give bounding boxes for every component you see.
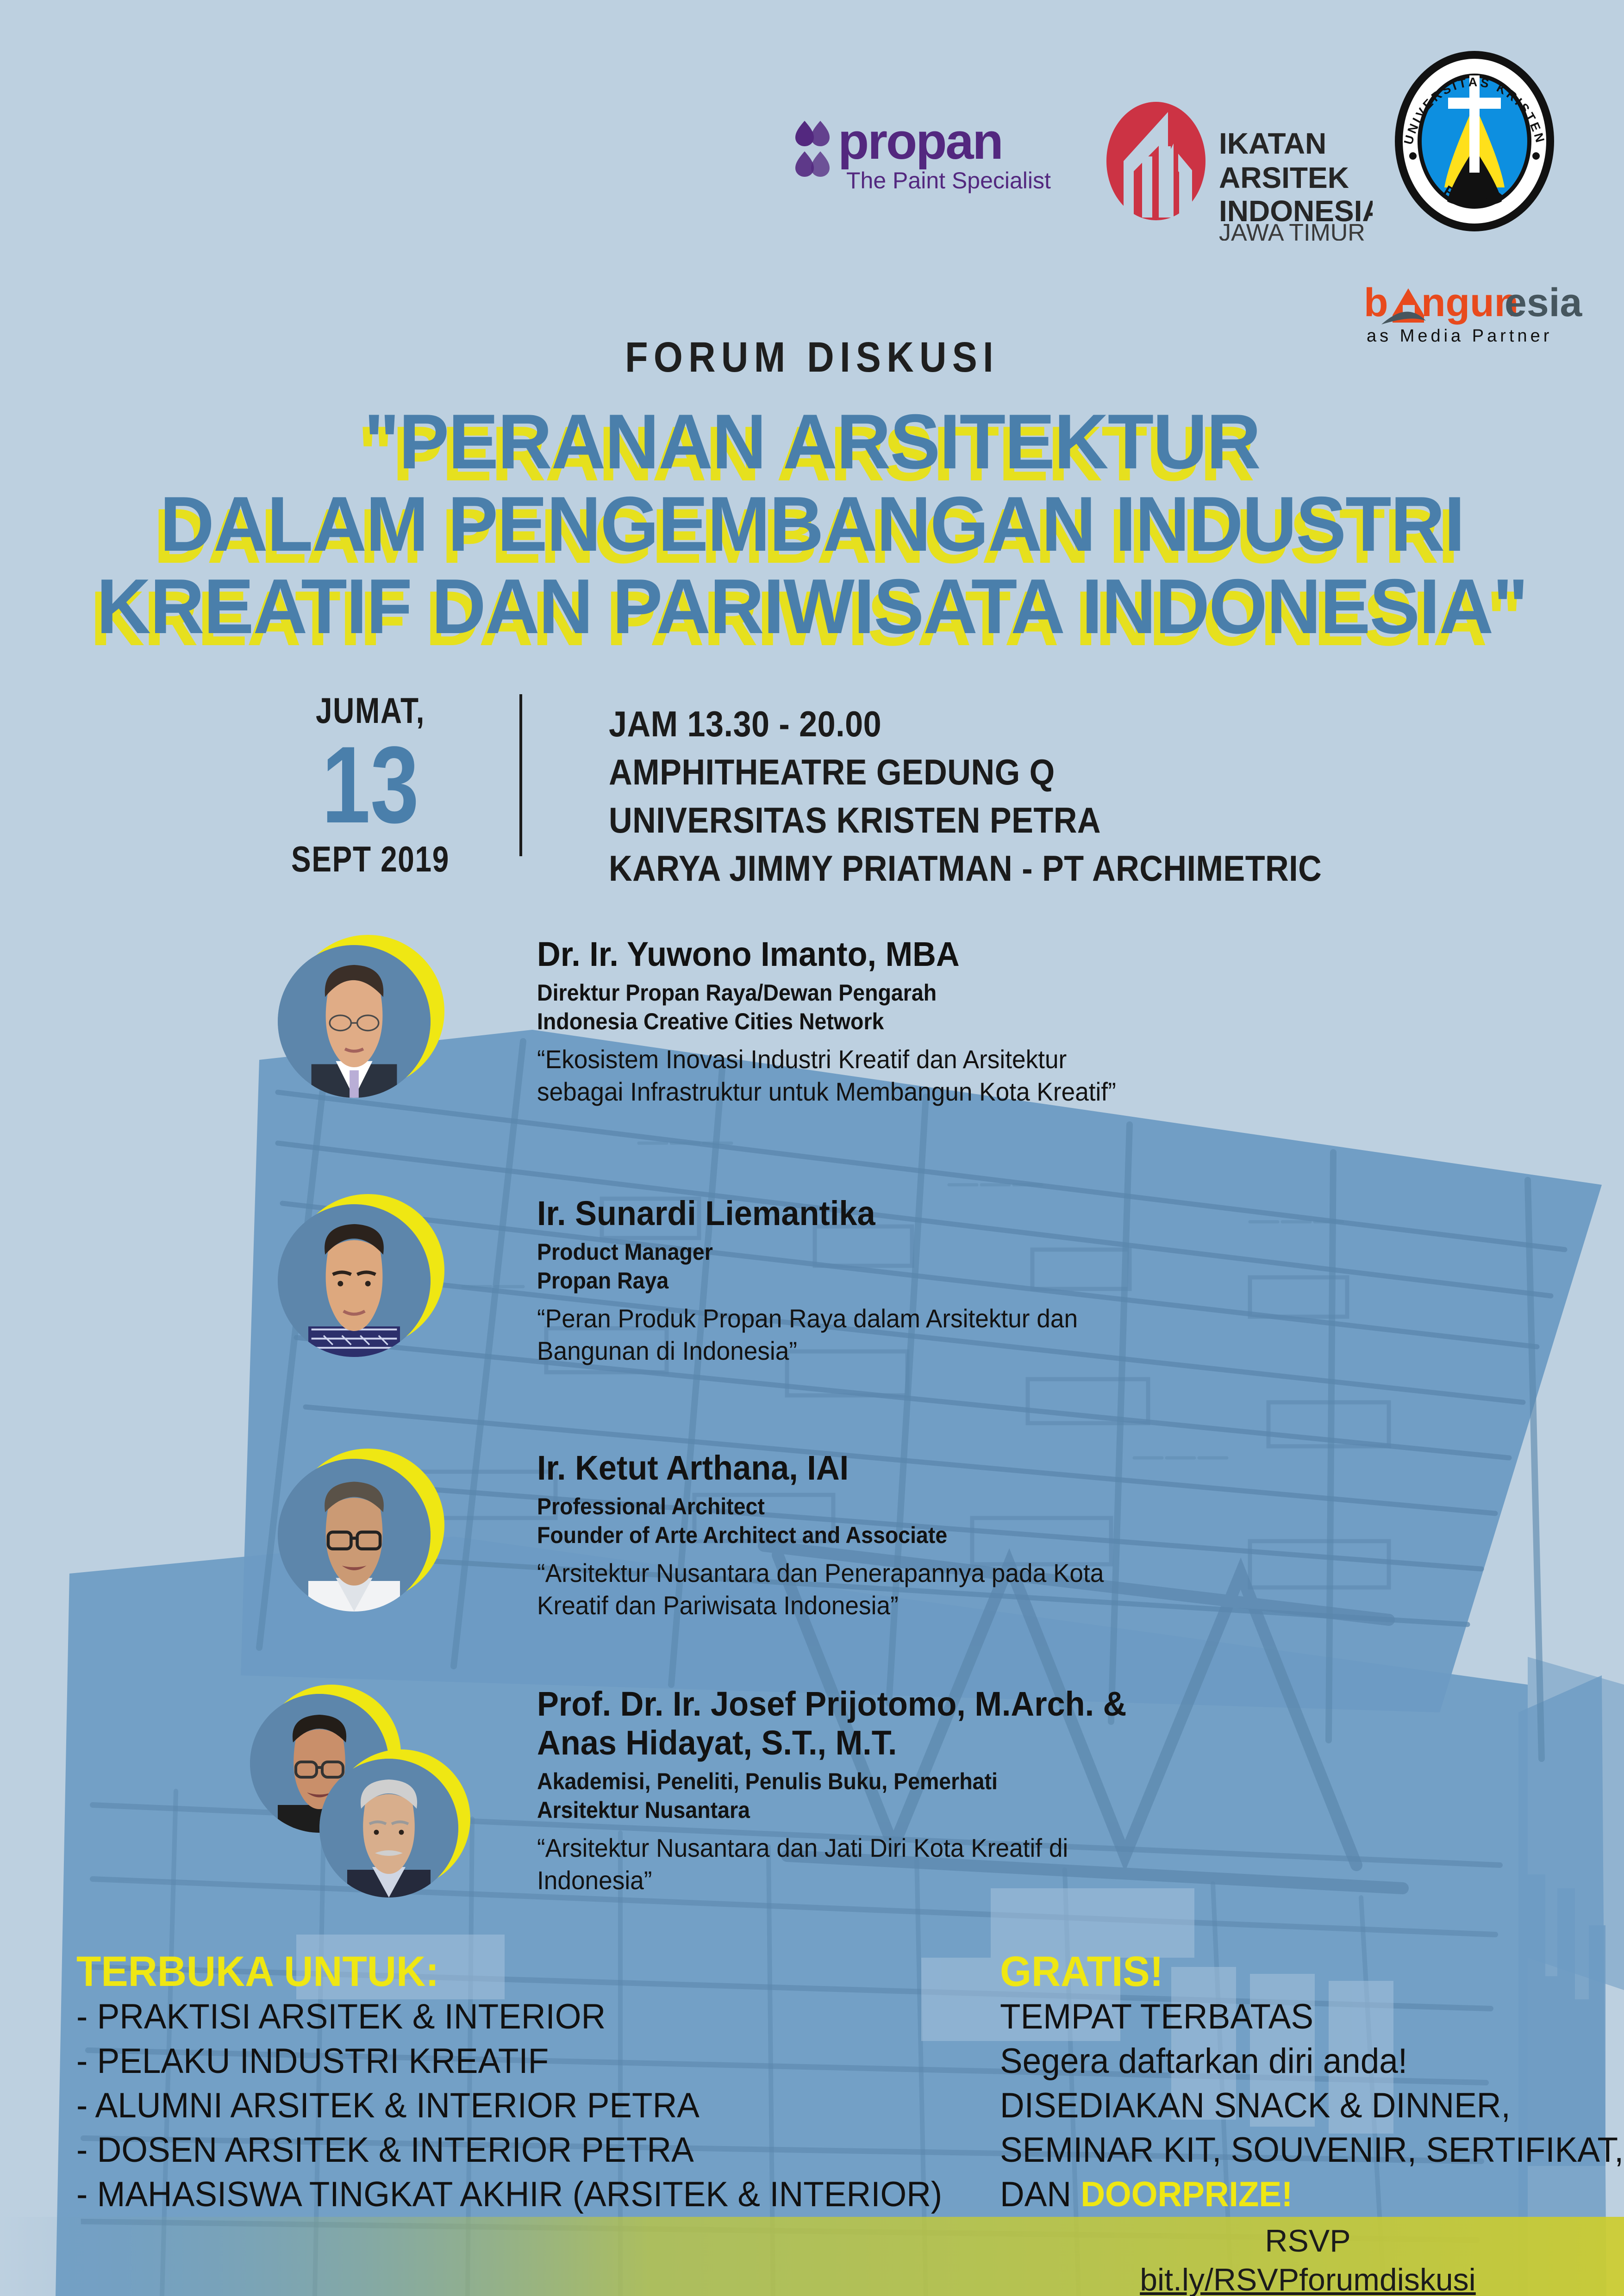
offer-doorprize-prefix: DAN xyxy=(1000,2175,1081,2214)
offer-doorprize-highlight: DOORPRIZE! xyxy=(1081,2175,1293,2214)
speaker-3-info: Ir. Ketut Arthana, IAI Professional Arch… xyxy=(537,1449,1555,1622)
avatar-photo xyxy=(278,1204,431,1357)
audience-item: - ALUMNI ARSITEK & INTERIOR PETRA xyxy=(76,2084,965,2128)
audience-heading: TERBUKA UNTUK: xyxy=(76,1948,956,1995)
offer-section: GRATIS! TEMPAT TERBATAS Segera daftarkan… xyxy=(1000,1948,1602,2217)
speaker-3-avatar xyxy=(278,1449,444,1615)
speaker-name: Dr. Ir. Yuwono Imanto, MBA xyxy=(537,935,1505,974)
rsvp-link[interactable]: bit.ly/RSVPforumdiskusi xyxy=(1140,2260,1476,2296)
speaker-role: Direktur Propan Raya/Dewan Pengarah Indo… xyxy=(537,978,1484,1036)
venue-details: JAM 13.30 - 20.00 AMPHITHEATRE GEDUNG Q … xyxy=(609,700,1442,892)
speaker-4-info: Prof. Dr. Ir. Josef Prijotomo, M.Arch. &… xyxy=(537,1685,1555,1897)
avatar-photo xyxy=(278,1459,431,1612)
speaker-card-3: Ir. Ketut Arthana, IAI Professional Arch… xyxy=(0,1444,1624,1694)
speaker-2-info: Ir. Sunardi Liemantika Product Manager P… xyxy=(537,1194,1555,1367)
universitas-kristen-petra-logo: UNIVERSITAS KRISTEN PETRA xyxy=(1389,49,1560,234)
portrait-illustration xyxy=(278,1459,431,1612)
speaker-topic: “Arsitektur Nusantara dan Jati Diri Kota… xyxy=(537,1832,1505,1897)
offer-line: SEMINAR KIT, SOUVENIR, SERTIFIKAT, xyxy=(1000,2128,1578,2172)
audience-item: - PRAKTISI ARSITEK & INTERIOR xyxy=(76,1995,965,2039)
audience-item: - PELAKU INDUSTRI KREATIF xyxy=(76,2039,965,2084)
speaker-2-avatar xyxy=(278,1194,444,1361)
avatar-photo xyxy=(278,945,431,1098)
ikatan-arsitek-indonesia-logo: IKATAN ARSITEK INDONESIA JAWA TIMUR xyxy=(1104,102,1373,241)
svg-text:ngun: ngun xyxy=(1421,280,1518,325)
speaker-card-4: Prof. Dr. Ir. Josef Prijotomo, M.Arch. &… xyxy=(0,1685,1624,1972)
kicker-forum-diskusi: FORUM DISKUSI xyxy=(97,333,1526,382)
date-block: JUMAT, 13 SEPT 2019 xyxy=(222,690,518,880)
speaker-name: Prof. Dr. Ir. Josef Prijotomo, M.Arch. &… xyxy=(537,1685,1505,1762)
speaker-card-1: Dr. Ir. Yuwono Imanto, MBA Direktur Prop… xyxy=(0,930,1624,1180)
rsvp-label: RSVP xyxy=(1018,2221,1597,2260)
audience-section: TERBUKA UNTUK: - PRAKTISI ARSITEK & INTE… xyxy=(76,1948,1002,2217)
audience-item: - DOSEN ARSITEK & INTERIOR PETRA xyxy=(76,2128,965,2172)
offer-line: Segera daftarkan diri anda! xyxy=(1000,2039,1578,2084)
speaker-role: Akademisi, Peneliti, Penulis Buku, Pemer… xyxy=(537,1767,1484,1824)
speaker-role: Professional Architect Founder of Arte A… xyxy=(537,1492,1484,1549)
svg-text:b: b xyxy=(1364,280,1388,325)
page-title: "PERANAN ARSITEKTUR DALAM PENGEMBANGAN I… xyxy=(25,400,1600,647)
rsvp-block: RSVP bit.ly/RSVPforumdiskusi xyxy=(1018,2221,1597,2296)
svg-text:propan: propan xyxy=(838,113,1002,170)
speaker-name: Ir. Ketut Arthana, IAI xyxy=(537,1449,1505,1487)
speaker-4b-avatar xyxy=(319,1749,477,1907)
portrait-illustration xyxy=(278,1204,431,1357)
portrait-illustration xyxy=(278,945,431,1098)
svg-text:esia: esia xyxy=(1505,280,1583,325)
svg-text:ARSITEK: ARSITEK xyxy=(1219,161,1349,194)
offer-line: TEMPAT TERBATAS xyxy=(1000,1995,1578,2039)
sponsor-logo-row: propan The Paint Specialist IKATAN ARSIT… xyxy=(0,44,1624,197)
offer-heading: GRATIS! xyxy=(1000,1948,1572,1995)
speaker-card-2: Ir. Sunardi Liemantika Product Manager P… xyxy=(0,1189,1624,1439)
avatar-photo xyxy=(319,1759,458,1898)
svg-text:IKATAN: IKATAN xyxy=(1219,127,1326,160)
speaker-name: Ir. Sunardi Liemantika xyxy=(537,1194,1505,1233)
speaker-1-info: Dr. Ir. Yuwono Imanto, MBA Direktur Prop… xyxy=(537,935,1555,1108)
audience-item: - MAHASISWA TINGKAT AKHIR (ARSITEK & INT… xyxy=(76,2172,965,2217)
event-datetime-venue: JUMAT, 13 SEPT 2019 JAM 13.30 - 20.00 AM… xyxy=(0,690,1624,870)
speaker-topic: “Ekosistem Inovasi Industri Kreatif dan … xyxy=(537,1043,1505,1108)
offer-line: DISEDIAKAN SNACK & DINNER, xyxy=(1000,2084,1578,2128)
speaker-topic: “Arsitektur Nusantara dan Penerapannya p… xyxy=(537,1557,1505,1622)
speaker-topic: “Peran Produk Propan Raya dalam Arsitekt… xyxy=(537,1302,1505,1367)
event-poster: propan The Paint Specialist IKATAN ARSIT… xyxy=(0,0,1624,2296)
date-monthyear: SEPT 2019 xyxy=(249,838,492,880)
svg-text:The Paint Specialist: The Paint Specialist xyxy=(846,168,1051,193)
propan-logo: propan The Paint Specialist xyxy=(792,109,1051,197)
offer-line-doorprize: DAN DOORPRIZE! xyxy=(1000,2172,1578,2217)
speaker-role: Product Manager Propan Raya xyxy=(537,1238,1484,1295)
portrait-illustration xyxy=(319,1759,458,1898)
speaker-1-avatar xyxy=(278,935,444,1101)
vertical-divider xyxy=(519,694,522,856)
date-number: 13 xyxy=(252,732,489,838)
svg-text:JAWA TIMUR: JAWA TIMUR xyxy=(1219,219,1365,241)
